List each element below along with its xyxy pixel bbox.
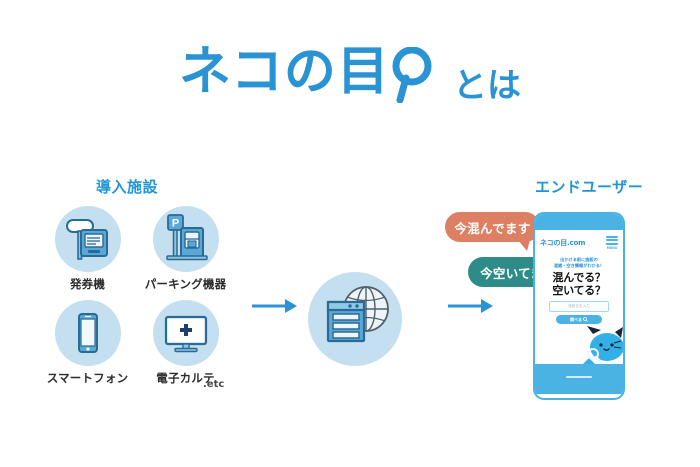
facility-item-electronic-medical-record: 電子カルテ <box>138 300 233 386</box>
brand-logo-eye-char: 目 <box>337 42 390 102</box>
facility-item-ticket-machine: 発券機 <box>40 206 135 292</box>
phone-mockup: ネコの目.com MENU 出かける前に施設の 混雑・空き情報がわかる！ 混んで… <box>533 212 625 400</box>
svg-text:P: P <box>171 218 178 230</box>
ticket-machine-icon <box>55 206 121 272</box>
flow-arrow-server-to-endusers <box>448 298 494 318</box>
facility-item-smartphone: スマートフォン <box>40 300 135 386</box>
page-title-suffix: とは <box>453 58 521 107</box>
search-button-label: 調べる <box>570 317 582 323</box>
facility-search-button[interactable]: 調べる <box>556 315 602 324</box>
facility-search-input[interactable]: 施設名を入力 <box>549 301 609 312</box>
server-globe-icon <box>308 272 402 366</box>
phone-screen: ネコの目.com MENU 出かける前に施設の 混雑・空き情報がわかる！ 混んで… <box>535 230 623 364</box>
flow-arrow-facilities-to-server <box>252 298 298 318</box>
page-title: ネコの目 とは <box>0 46 700 103</box>
search-icon <box>583 317 588 322</box>
parking-meter-icon: P <box>153 206 219 272</box>
facility-item-parking-meter: P パーキング機器 <box>138 206 233 292</box>
speech-bubble-busy: 今混んでます <box>445 212 540 242</box>
phone-headline-line: 混んでる？ <box>535 271 623 284</box>
endusers-heading: エンドユーザー <box>535 176 643 197</box>
phone-app-header: ネコの目.com MENU <box>535 230 623 252</box>
hamburger-bar <box>606 236 618 238</box>
hamburger-menu-label: MENU <box>606 246 618 250</box>
hamburger-bar <box>606 243 618 245</box>
etc-label: .etc <box>203 379 224 390</box>
electronic-medical-record-icon <box>153 300 219 366</box>
brand-logo: ネコの目 <box>179 46 434 103</box>
phone-tagline: 出かける前に施設の 混雑・空き情報がわかる！ <box>535 257 623 268</box>
brand-logo-kana: ネコの <box>179 42 337 102</box>
smartphone-icon <box>55 300 121 366</box>
facilities-heading: 導入施設 <box>96 176 158 197</box>
phone-status-bar <box>535 214 623 230</box>
phone-app-logo: ネコの目.com <box>540 238 585 248</box>
facility-label: スマートフォン <box>40 370 135 386</box>
phone-bottom-bar <box>535 364 623 394</box>
facility-label: 発券機 <box>40 276 135 292</box>
magnifier-eye-icon <box>390 47 434 103</box>
phone-headline-line: 空いてる？ <box>535 284 623 297</box>
cat-mascot-icon <box>581 324 623 364</box>
facility-label: パーキング機器 <box>138 276 233 292</box>
home-indicator <box>566 376 592 378</box>
hamburger-bar <box>606 239 618 241</box>
phone-tagline-line: 混雑・空き情報がわかる！ <box>535 263 623 269</box>
phone-headline: 混んでる？ 空いてる？ <box>535 271 623 297</box>
hamburger-menu-icon[interactable]: MENU <box>606 236 618 251</box>
